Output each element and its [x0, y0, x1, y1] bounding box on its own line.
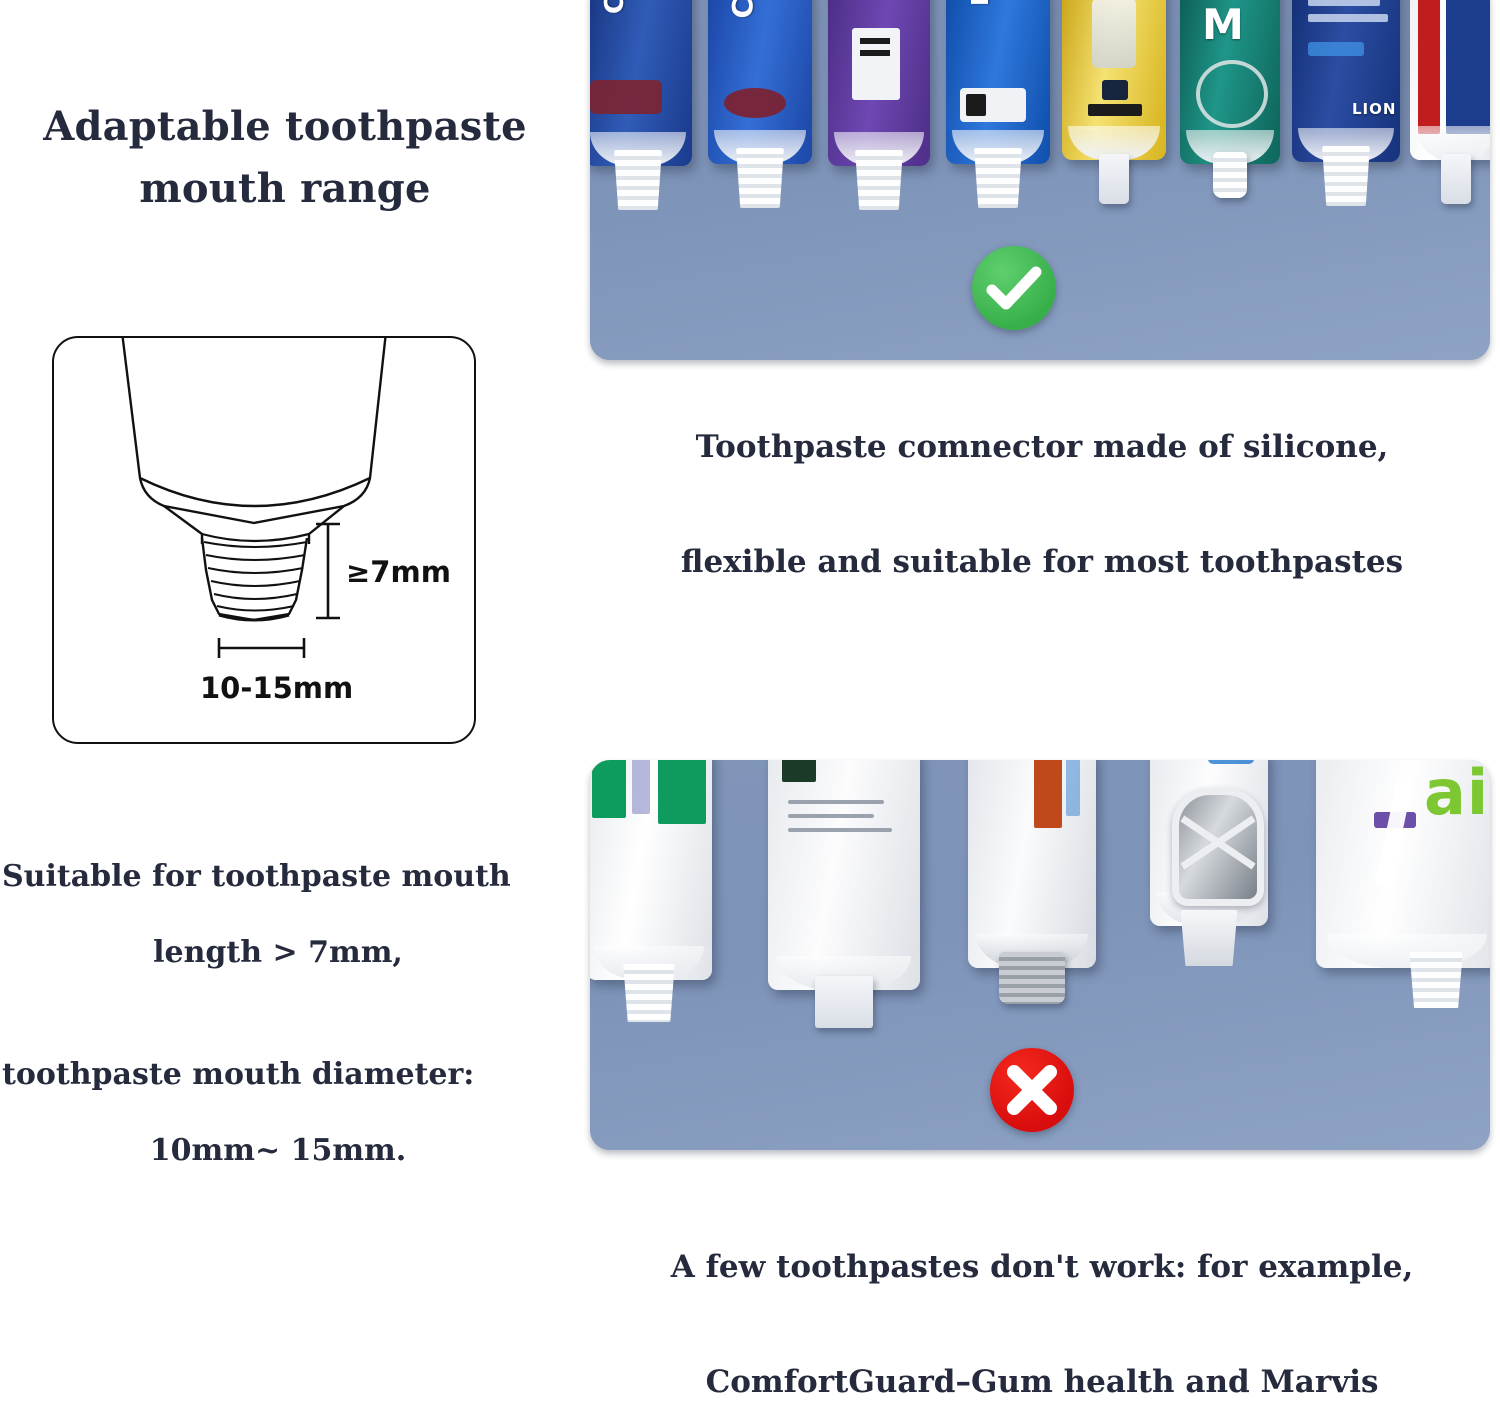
tube-silver-neck — [968, 760, 1096, 968]
compatible-toothpastes-photo: Crest Crest — [590, 0, 1490, 360]
tube-crest-1: Crest — [590, 0, 692, 166]
left-column: Adaptable toothpaste mouth range — [0, 0, 570, 1412]
tube-gold — [1062, 0, 1166, 160]
tube-white-plain — [768, 760, 920, 990]
tube-neck — [1213, 152, 1247, 198]
tube-neck-metal — [999, 952, 1065, 1004]
tube-neck — [1320, 146, 1372, 206]
tube-cage-cap — [1150, 760, 1268, 926]
tube-teal-m: M — [1180, 0, 1280, 164]
tube-neck-flat — [815, 976, 873, 1028]
tube-neck — [1178, 910, 1240, 966]
specification-text: Suitable for toothpaste mouth length > 7… — [0, 862, 556, 1166]
photo-content: air — [590, 760, 1490, 1150]
tube-novy-zhemchug — [1410, 0, 1490, 160]
spec-line-3: toothpaste mouth diameter: — [0, 1060, 556, 1090]
horizontal-dimension-label: 10-15mm — [200, 671, 353, 705]
top-caption-line-1: Toothpaste comnector made of silicone, — [594, 432, 1490, 463]
top-caption-line-2: flexible and suitable for most toothpast… — [594, 547, 1490, 578]
tube-darlie: DARLIE — [946, 0, 1050, 164]
tube-neck — [1407, 952, 1465, 1008]
tube-lion: LION — [1292, 0, 1400, 162]
bottom-caption-line-1: A few toothpastes don't work: for exampl… — [594, 1252, 1490, 1283]
spec-line-1: Suitable for toothpaste mouth — [0, 862, 556, 892]
page-title-line-2: mouth range — [10, 158, 560, 220]
right-column: Crest Crest — [580, 0, 1500, 1412]
green-check-badge — [972, 246, 1056, 330]
tube-neck-flat — [1099, 154, 1129, 204]
page-title: Adaptable toothpaste mouth range — [10, 96, 560, 220]
cage-cap-icon — [1172, 788, 1264, 906]
top-caption: Toothpaste comnector made of silicone, f… — [594, 432, 1490, 578]
tube-neck — [853, 150, 905, 210]
cross-icon — [990, 1048, 1074, 1132]
tube-neck — [972, 148, 1024, 208]
check-icon — [972, 246, 1056, 330]
bottom-caption: A few toothpastes don't work: for exampl… — [594, 1252, 1490, 1398]
tube-neck — [621, 964, 677, 1022]
spec-line-4: 10mm~ 15mm. — [0, 1136, 556, 1166]
tube-neck-flat — [1441, 154, 1471, 204]
tube-neck — [734, 148, 786, 208]
nozzle-dimension-diagram: ≥7mm 10-15mm — [52, 336, 476, 744]
red-cross-badge — [990, 1048, 1074, 1132]
incompatible-toothpastes-photo: air — [590, 760, 1490, 1150]
tube-white-green — [590, 760, 712, 980]
nozzle-diagram-svg: ≥7mm 10-15mm — [54, 338, 474, 742]
aquafresh-wordmark: air — [1424, 760, 1490, 829]
tube-purple — [828, 0, 930, 166]
tube-aquafresh: air — [1316, 760, 1490, 968]
tube-neck — [612, 150, 664, 210]
photo-content: Crest Crest — [590, 0, 1490, 360]
vertical-dimension-label: ≥7mm — [346, 555, 451, 589]
bottom-caption-line-2: ComfortGuard–Gum health and Marvis — [594, 1367, 1490, 1398]
page-title-line-1: Adaptable toothpaste — [10, 96, 560, 158]
tube-crest-2: Crest — [708, 0, 812, 164]
spec-line-2: length > 7mm, — [0, 938, 556, 968]
